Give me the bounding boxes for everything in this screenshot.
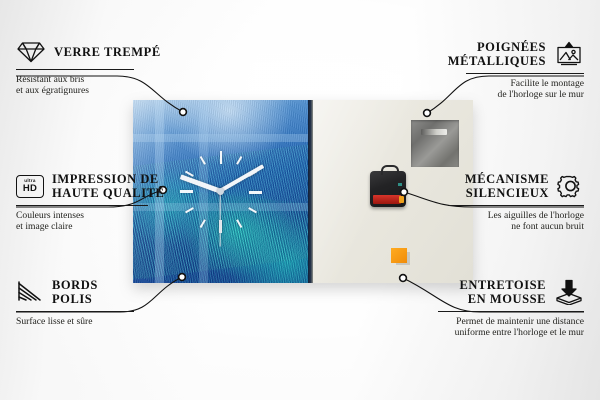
gear-icon [557, 173, 584, 199]
feature-rule [438, 311, 584, 312]
clock-tick-bar [199, 219, 205, 228]
feature-description: Les aiguilles de l'horloge ne font aucun… [448, 210, 584, 232]
feature-header: BORDSPOLIS [16, 278, 134, 306]
feature-header: POIGNÉESMÉTALLIQUES [466, 40, 584, 68]
ultra-hd-badge-icon: ultra HD [16, 175, 44, 198]
feature-impression-haute-qualite: ultra HD IMPRESSION DEHAUTE QUALITÉ Coul… [16, 172, 148, 232]
feature-title: ENTRETOISEEN MOUSSE [438, 278, 546, 306]
feature-title: VERRE TREMPÉ [54, 45, 161, 59]
feature-header: ultra HD IMPRESSION DEHAUTE QUALITÉ [16, 172, 148, 200]
feature-mecanisme-silencieux: MÉCANISMESILENCIEUX Les aiguilles de l'h… [448, 172, 584, 232]
feature-rule [16, 311, 134, 312]
feature-header: VERRE TREMPÉ [16, 40, 134, 64]
hanging-picture-frame-icon [554, 41, 584, 67]
clock-center-cap [217, 188, 224, 195]
feature-bords-polis: BORDSPOLIS Surface lisse et sûre [16, 278, 134, 327]
feature-description: Résistant aux bris et aux égratignures [16, 74, 134, 96]
feature-title: BORDSPOLIS [52, 278, 98, 306]
metal-hanger-plate [411, 120, 459, 167]
polished-edge-lines-icon [16, 280, 44, 304]
mechanism-bail [381, 165, 399, 175]
second-hand [219, 191, 220, 247]
mechanism-label [398, 183, 402, 186]
clock-tick-bar [180, 190, 193, 193]
feature-rule [16, 69, 134, 70]
diamond-icon [16, 40, 46, 64]
product-image [133, 100, 473, 283]
feature-description: Surface lisse et sûre [16, 316, 134, 327]
feature-rule [448, 205, 584, 206]
feature-title: MÉCANISMESILENCIEUX [448, 172, 549, 200]
foam-spacer-arrow-icon [554, 279, 584, 305]
feature-verre-trempe: VERRE TREMPÉ Résistant aux bris et aux é… [16, 40, 134, 96]
feature-title: POIGNÉESMÉTALLIQUES [448, 40, 546, 68]
feature-header: ENTRETOISEEN MOUSSE [438, 278, 584, 306]
feature-header: MÉCANISMESILENCIEUX [448, 172, 584, 200]
ultra-hd-main-text: HD [23, 184, 37, 194]
feature-description: Permet de maintenir une distance uniform… [438, 316, 584, 338]
feature-description: Couleurs intenses et image claire [16, 210, 148, 232]
feature-poignees-metalliques: POIGNÉESMÉTALLIQUES Facilite le montage … [466, 40, 584, 100]
feature-title: IMPRESSION DEHAUTE QUALITÉ [52, 172, 164, 200]
clock-tick-bar [184, 207, 193, 213]
foam-spacer [391, 248, 407, 263]
feature-entretoise-en-mousse: ENTRETOISEEN MOUSSE Permet de maintenir … [438, 278, 584, 338]
clock-tick-bar [199, 155, 205, 164]
infographic-canvas: VERRE TREMPÉ Résistant aux bris et aux é… [0, 0, 600, 400]
feature-rule [16, 205, 148, 206]
hanger-slot [421, 129, 447, 135]
battery [373, 195, 401, 204]
quartz-mechanism [370, 171, 406, 207]
feature-description: Facilite le montage de l'horloge sur le … [466, 78, 584, 100]
feature-rule [466, 73, 584, 74]
